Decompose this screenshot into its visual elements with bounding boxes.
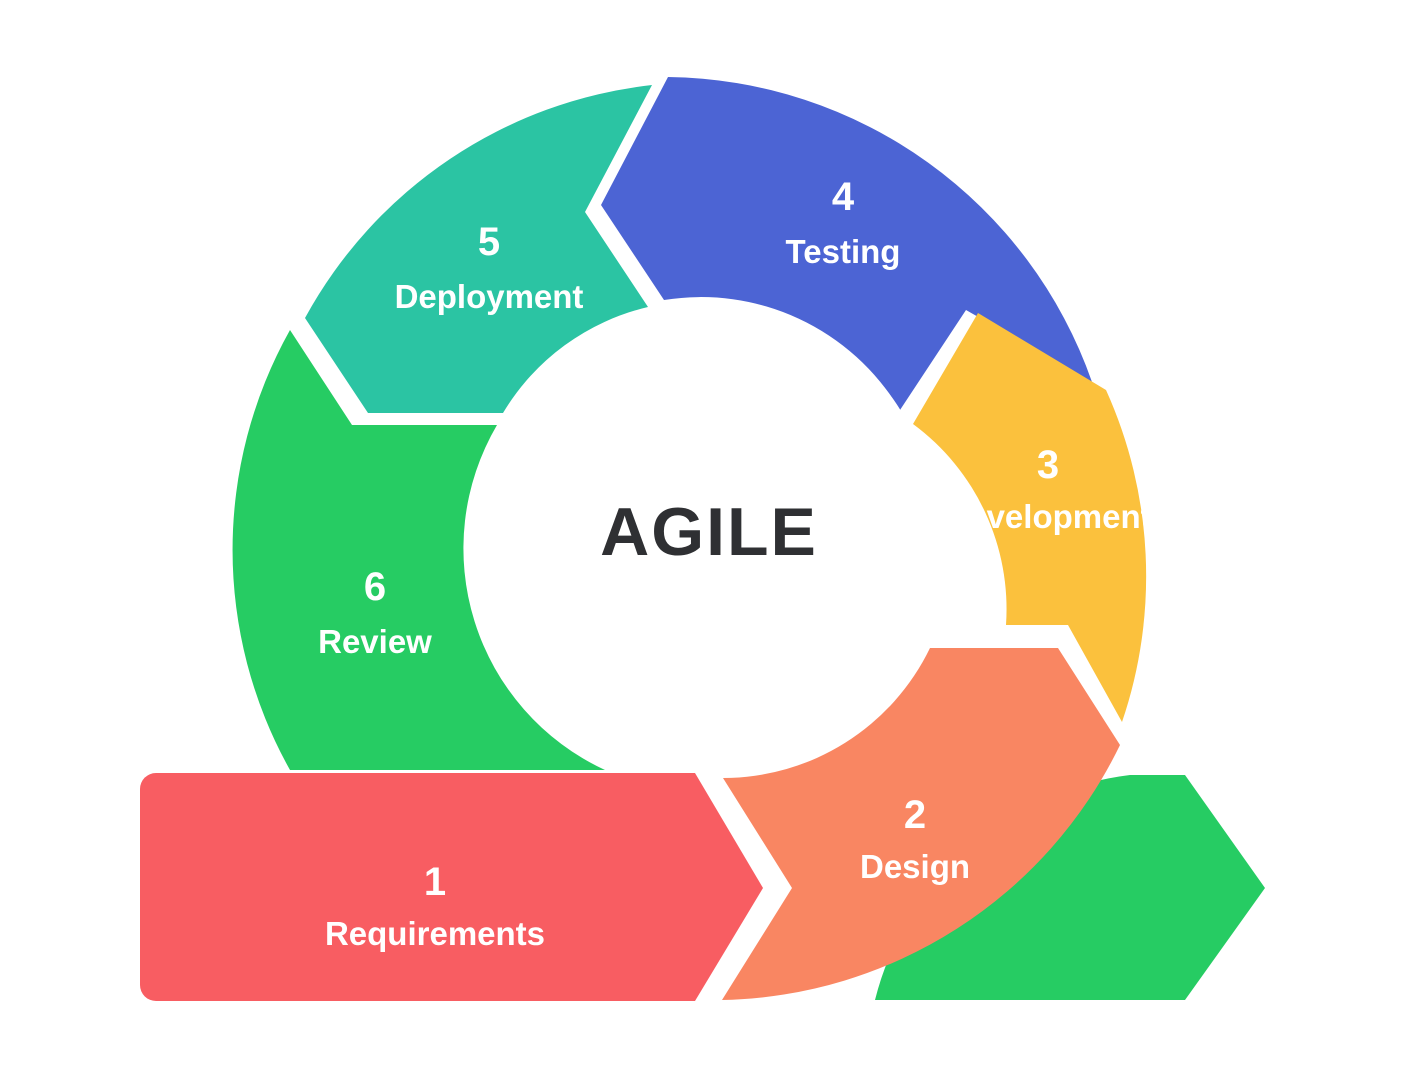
segment-5-number: 5 [478, 220, 500, 264]
segment-6-label: Review [318, 623, 432, 660]
segment-1-label: Requirements [325, 915, 545, 952]
diagram-canvas: 6 Review 5 Deployment 4 Testing 3 Develo… [0, 0, 1416, 1088]
center-hub: AGILE [483, 304, 935, 756]
agile-cycle-diagram: 6 Review 5 Deployment 4 Testing 3 Develo… [0, 0, 1416, 1088]
segment-1-number: 1 [424, 860, 446, 904]
segment-2-label: Design [860, 848, 970, 885]
segment-6-number: 6 [364, 565, 386, 609]
segment-3-number: 3 [1037, 443, 1059, 487]
segment-1-requirements[interactable]: 1 Requirements [140, 773, 763, 1001]
center-hub-label: AGILE [600, 494, 818, 570]
segment-4-label: Testing [786, 233, 901, 270]
segment-5-label: Deployment [395, 278, 584, 315]
segment-3-label: Development [944, 498, 1151, 535]
segment-4-number: 4 [832, 175, 855, 219]
segment-2-number: 2 [904, 793, 926, 837]
segment-1-shape[interactable] [140, 773, 763, 1001]
